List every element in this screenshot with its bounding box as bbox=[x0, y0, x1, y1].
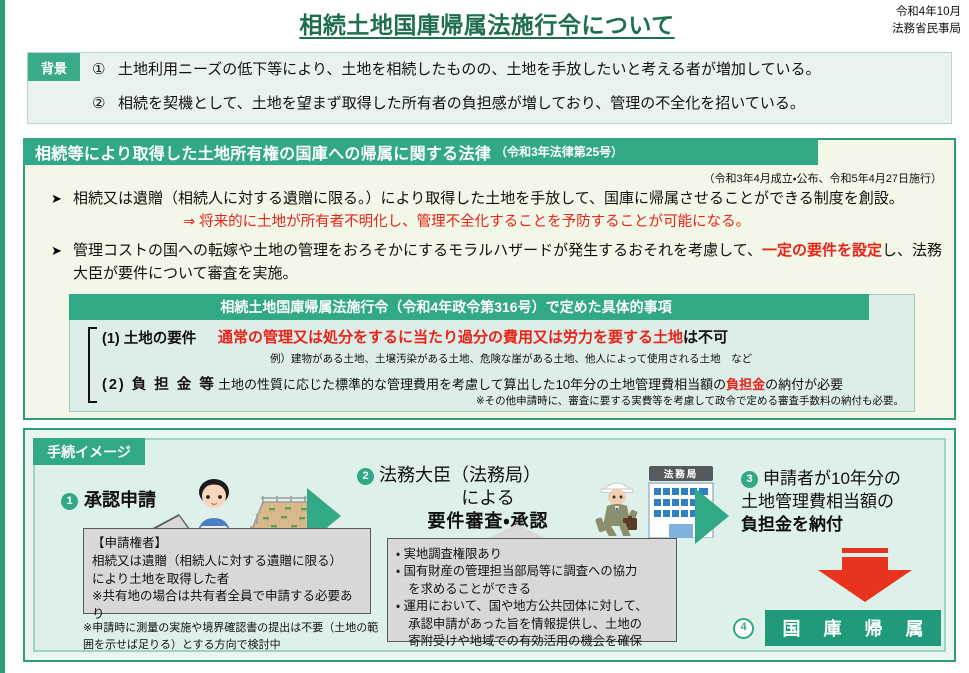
spec-heading: 相続土地国庫帰属法施行令（令和4年政令第316号）で定めた具体的事項 bbox=[69, 294, 869, 320]
law-enactment-note: （令和3年4月成立・公布、令和5年4月27日施行） bbox=[704, 170, 942, 186]
procedure-inner: 手続イメージ bbox=[33, 438, 946, 652]
law-bullet-1-text: 相続又は遺贈（相続人に対する遺贈に限る。）により取得した土地を手放して、国庫に帰… bbox=[73, 190, 904, 207]
spec-row-2-emphasis: 負担金 bbox=[726, 377, 765, 392]
spec-box: 相続土地国庫帰属法施行令（令和4年政令第316号）で定めた具体的事項 (1) 土… bbox=[69, 294, 915, 412]
law-bullet-1-red-note: ⇒ 将来的に土地が所有者不明化し、管理不全化することを予防することが可能になる。 bbox=[183, 212, 933, 234]
step-2-number: 2 bbox=[357, 468, 374, 485]
spec-row-2-pre: 土地の性質に応じた標準的な管理費用を考慮して算出した10年分の土地管理費相当額の bbox=[218, 377, 726, 392]
step-3-line3: 負担金を納付 bbox=[741, 514, 969, 537]
law-heading-main: 相続等により取得した土地所有権の国庫への帰属に関する法律 bbox=[35, 140, 491, 164]
spec-row-1-main: 通常の管理又は処分をするに当たり過分の費用又は労力を要する土地は不可 bbox=[218, 326, 728, 347]
flow-arrow-2-icon bbox=[695, 488, 729, 544]
header-issuer: 法務省民事局 bbox=[892, 21, 961, 38]
step-1-label: 承認申請 bbox=[84, 490, 156, 510]
background-item-1: ①土地利用ニーズの低下等により、土地を相続したものの、土地を手放したいと考える者… bbox=[92, 58, 941, 79]
spec-bracket bbox=[88, 327, 97, 403]
law-heading-sub: （令和3年法律第25号） bbox=[495, 143, 623, 160]
procedure-section: 手続イメージ bbox=[23, 428, 956, 662]
officer-person-icon bbox=[593, 474, 641, 536]
background-item-2-text: 相続を契機として、土地を望まず取得した所有者の負担感が増しており、管理の不全化を… bbox=[118, 95, 805, 112]
background-item-1-number: ① bbox=[92, 60, 118, 78]
document-page: 相続土地国庫帰属法施行令について 令和4年10月 法務省民事局 背景 ①土地利用… bbox=[0, 0, 969, 673]
spec-row-2-label: (2) 負 担 金 等 bbox=[102, 373, 216, 394]
step-2-line1: 法務大臣（法務局） bbox=[379, 465, 541, 485]
step-1-title: 1承認申請 bbox=[61, 486, 156, 512]
step-1-number: 1 bbox=[61, 493, 78, 510]
spec-row-1-label: (1) 土地の要件 bbox=[102, 327, 196, 348]
spec-row-2-note: ※その他申請時に、審査に要する実費等を考慮して政令で定める審査手数料の納付も必要… bbox=[476, 393, 904, 408]
arrow-marker-icon: ➤ bbox=[51, 241, 62, 261]
arrow-marker-icon: ➤ bbox=[51, 189, 62, 209]
procedure-2-details: ・ 実地調査権限あり ・ 国有財産の管理担当部局等に調査への協力 を求めることが… bbox=[387, 538, 677, 642]
law-bullet-2-emphasis: 一定の要件を設定 bbox=[762, 242, 882, 259]
procedure-2-callout-tail bbox=[487, 524, 547, 539]
page-title: 相続土地国庫帰属法施行令について bbox=[5, 6, 969, 40]
step-3-line1-wrap: 3申請者が10年分の bbox=[741, 468, 969, 491]
applicant-callout: 【申請権者】 相続又は遺贈（相続人に対する遺贈に限る） により土地を取得した者 … bbox=[83, 528, 371, 614]
spec-row-1-example: 例）建物がある土地、土壌汚染がある土地、危険な崖がある土地、他人によって使用され… bbox=[270, 351, 752, 366]
spec-row-1-red: 通常の管理又は処分をするに当たり過分の費用又は労力を要する土地 bbox=[218, 329, 683, 346]
law-bullet-2: ➤ 管理コストの国への転嫁や土地の管理をおろそかにするモラルハザードが発生するお… bbox=[73, 240, 943, 285]
spec-row-2-main: 土地の性質に応じた標準的な管理費用を考慮して算出した10年分の土地管理費相当額の… bbox=[218, 374, 843, 393]
procedure-badge: 手続イメージ bbox=[33, 438, 145, 465]
law-section: 相続等により取得した土地所有権の国庫への帰属に関する法律 （令和3年法律第25号… bbox=[23, 138, 956, 420]
background-item-1-text: 土地利用ニーズの低下等により、土地を相続したものの、土地を手放したいと考える者が… bbox=[118, 61, 820, 78]
background-item-2: ②相続を契機として、土地を望まず取得した所有者の負担感が増しており、管理の不全化… bbox=[92, 92, 941, 113]
background-badge: 背景 bbox=[28, 53, 80, 81]
law-heading: 相続等により取得した土地所有権の国庫への帰属に関する法律 （令和3年法律第25号… bbox=[23, 138, 818, 165]
step-4-result-label: 国 庫 帰 属 bbox=[765, 610, 941, 646]
law-bullet-2-pre: 管理コストの国への転嫁や土地の管理をおろそかにするモラルハザードが発生するおそれ… bbox=[73, 242, 762, 259]
step-3-title: 3申請者が10年分の 土地管理費相当額の 負担金を納付 bbox=[741, 468, 969, 537]
down-arrow-icon bbox=[810, 548, 920, 604]
step-3-number: 3 bbox=[741, 471, 758, 488]
spec-row-1-black: は不可 bbox=[683, 329, 728, 346]
step-3-line2: 土地管理費相当額の bbox=[741, 491, 969, 514]
step-1-note: ※申請時に測量の実施や境界確認書の提出は不要（土地の範囲を示せば足りる）とする方… bbox=[83, 620, 383, 653]
svg-text:法務局: 法務局 bbox=[664, 469, 699, 481]
background-box: 背景 ①土地利用ニーズの低下等により、土地を相続したものの、土地を手放したいと考… bbox=[27, 52, 952, 124]
law-bullet-1: ➤ 相続又は遺贈（相続人に対する遺贈に限る。）により取得した土地を手放して、国庫… bbox=[73, 188, 933, 233]
step-3-line1: 申請者が10年分の bbox=[763, 469, 901, 488]
step-2-line2: による bbox=[357, 487, 607, 510]
header-date: 令和4年10月 bbox=[892, 4, 961, 21]
step-2-line3: 要件審査・承認 bbox=[357, 510, 607, 533]
spec-row-2-post: の納付が必要 bbox=[765, 377, 843, 392]
header-meta: 令和4年10月 法務省民事局 bbox=[892, 4, 961, 37]
step-2-title: 2 法務大臣（法務局） による 要件審査・承認 bbox=[357, 464, 607, 533]
page-header: 相続土地国庫帰属法施行令について 令和4年10月 法務省民事局 bbox=[5, 0, 969, 44]
step-4-number: 4 bbox=[733, 618, 754, 639]
background-item-2-number: ② bbox=[92, 94, 118, 112]
